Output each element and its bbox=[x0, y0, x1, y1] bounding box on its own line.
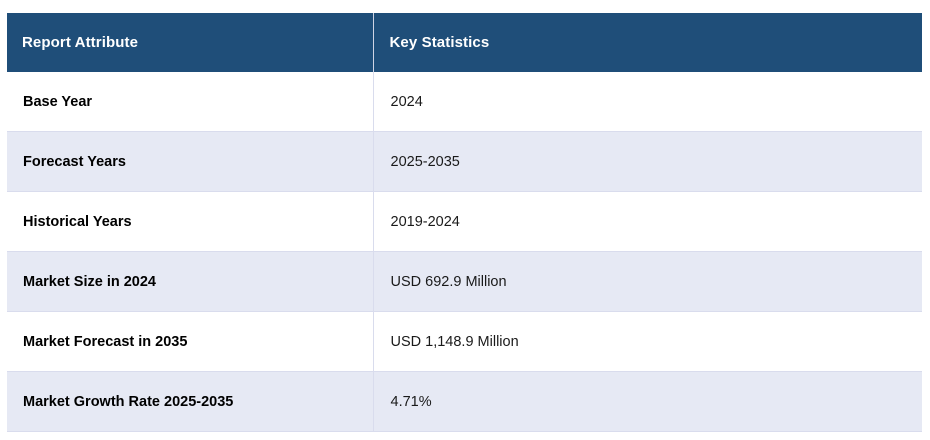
table-row: Historical Years 2019-2024 bbox=[7, 192, 922, 252]
table-row: Market Size in 2024 USD 692.9 Million bbox=[7, 252, 922, 312]
column-header-key-statistics: Key Statistics bbox=[373, 13, 922, 72]
table-header: Report Attribute Key Statistics bbox=[7, 13, 922, 72]
row-label-base-year: Base Year bbox=[7, 72, 373, 132]
row-value-market-growth-rate: 4.71% bbox=[373, 372, 922, 432]
table-header-row: Report Attribute Key Statistics bbox=[7, 13, 922, 72]
table-row: Market Growth Rate 2025-2035 4.71% bbox=[7, 372, 922, 432]
table-body: Base Year 2024 Forecast Years 2025-2035 … bbox=[7, 72, 922, 432]
table-row: Forecast Years 2025-2035 bbox=[7, 132, 922, 192]
report-statistics-table-container: Report Attribute Key Statistics Base Yea… bbox=[0, 0, 930, 440]
report-statistics-table: Report Attribute Key Statistics Base Yea… bbox=[7, 13, 922, 432]
table-row: Market Forecast in 2035 USD 1,148.9 Mill… bbox=[7, 312, 922, 372]
row-label-historical-years: Historical Years bbox=[7, 192, 373, 252]
row-label-market-size-2024: Market Size in 2024 bbox=[7, 252, 373, 312]
table-row: Base Year 2024 bbox=[7, 72, 922, 132]
column-header-report-attribute: Report Attribute bbox=[7, 13, 373, 72]
row-value-market-size-2024: USD 692.9 Million bbox=[373, 252, 922, 312]
row-label-market-forecast-2035: Market Forecast in 2035 bbox=[7, 312, 373, 372]
row-label-forecast-years: Forecast Years bbox=[7, 132, 373, 192]
row-value-market-forecast-2035: USD 1,148.9 Million bbox=[373, 312, 922, 372]
row-value-base-year: 2024 bbox=[373, 72, 922, 132]
row-label-market-growth-rate: Market Growth Rate 2025-2035 bbox=[7, 372, 373, 432]
row-value-forecast-years: 2025-2035 bbox=[373, 132, 922, 192]
row-value-historical-years: 2019-2024 bbox=[373, 192, 922, 252]
